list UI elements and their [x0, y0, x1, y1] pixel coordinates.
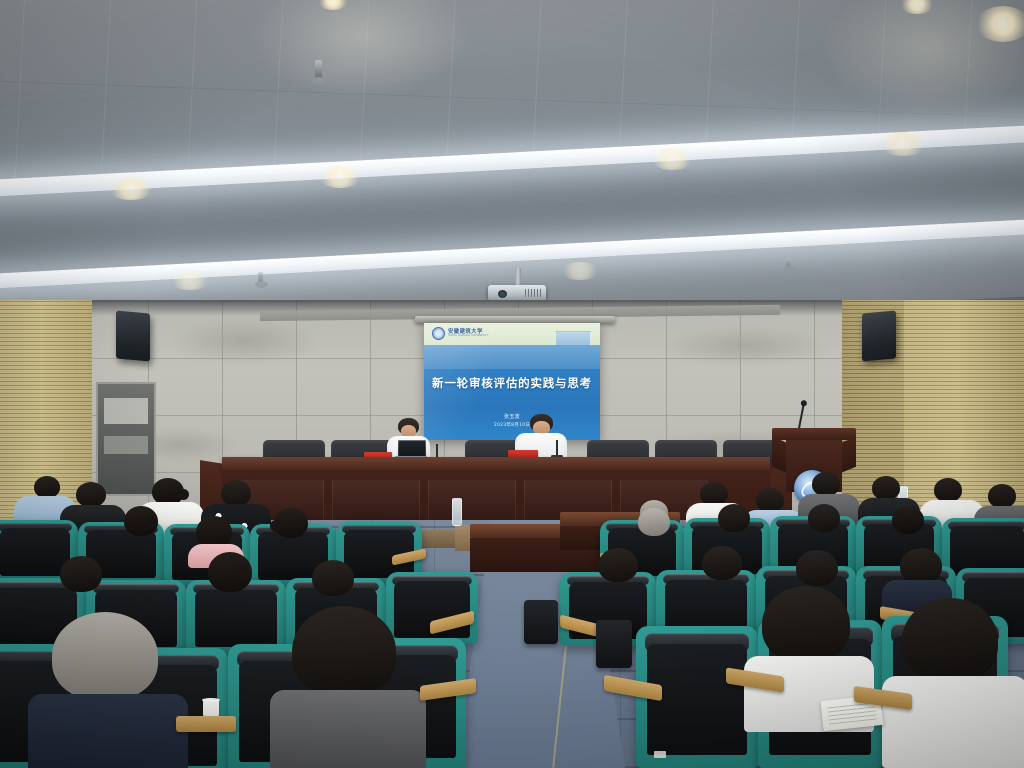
person-torso [28, 694, 188, 768]
downlight-icon [880, 132, 926, 156]
handbag [524, 600, 558, 644]
seat-cushion [195, 590, 277, 648]
person-head [221, 480, 251, 506]
door-panel-upper [104, 398, 148, 424]
person-head [902, 598, 998, 682]
hair-bun [270, 520, 282, 532]
university-logo: 安徽建筑大学 ANHUI JIANZHU UNIVERSITY [432, 327, 489, 340]
sprinkler-icon [315, 60, 322, 80]
person-head [60, 556, 102, 592]
screen-roller-housing [415, 316, 615, 323]
desk-microphone-icon [556, 440, 558, 456]
water-bottle [452, 498, 462, 526]
projector-icon [488, 285, 546, 301]
person-head [796, 550, 838, 586]
wall-speaker-icon [862, 311, 896, 362]
wall-speaker-icon [116, 311, 150, 362]
person-head [34, 476, 60, 498]
projector-vent [525, 289, 541, 297]
person-head [292, 606, 396, 696]
projector-lens [498, 290, 507, 298]
seat-cushion [647, 644, 747, 755]
person-torso [882, 676, 1024, 768]
person-head [808, 504, 840, 532]
person-head [702, 546, 742, 580]
slide-date: 2023年8月10日 [424, 422, 600, 428]
downlight-icon [560, 262, 600, 280]
projector-mount-pole [515, 268, 521, 286]
desk-microphone-icon [436, 444, 438, 458]
downlight-icon [318, 166, 362, 188]
lecture-hall-photo: 安徽建筑大学 ANHUI JIANZHU UNIVERSITY 新一轮审核评估的… [0, 0, 1024, 768]
downlight-icon [650, 148, 694, 170]
sprinkler-icon [258, 272, 263, 284]
person-head [812, 472, 840, 496]
wall-stain [660, 326, 830, 366]
projection-screen: 安徽建筑大学 ANHUI JIANZHU UNIVERSITY 新一轮审核评估的… [424, 323, 600, 440]
slide-mid-band [424, 345, 600, 369]
person-head [900, 548, 942, 584]
university-name-en: ANHUI JIANZHU UNIVERSITY [448, 335, 489, 338]
slide-presenter: 张玉波 [424, 413, 600, 420]
slide-title: 新一轮审核评估的实践与思考 [424, 375, 600, 391]
hair-bun [236, 566, 250, 580]
handbag [596, 620, 632, 668]
sprinkler-icon [786, 258, 791, 269]
downlight-icon [108, 178, 154, 200]
person-head [756, 488, 784, 512]
downlight-icon [170, 272, 210, 290]
booklet-text-lines [827, 702, 877, 725]
person-head [988, 484, 1016, 508]
person-head [52, 612, 158, 700]
university-emblem-icon [432, 327, 445, 340]
side-door[interactable] [96, 382, 156, 496]
hair-bun [178, 489, 189, 500]
person-head [76, 482, 106, 507]
person-head [312, 560, 354, 596]
seat-number-label [654, 751, 666, 758]
hair-bun [146, 516, 158, 528]
podium-top [772, 428, 856, 440]
door-panel-lower [104, 436, 148, 454]
person-head [598, 548, 638, 582]
person-head [762, 586, 850, 662]
head-table-top [222, 457, 770, 470]
person-head [892, 506, 924, 534]
person-torso [270, 690, 426, 768]
wall-stain [170, 318, 320, 364]
person-head [718, 504, 750, 532]
person-head [934, 478, 962, 502]
person-head [700, 482, 728, 505]
person-head [638, 508, 670, 536]
seat-armrest-tablet [176, 716, 236, 732]
person-head [872, 476, 900, 500]
